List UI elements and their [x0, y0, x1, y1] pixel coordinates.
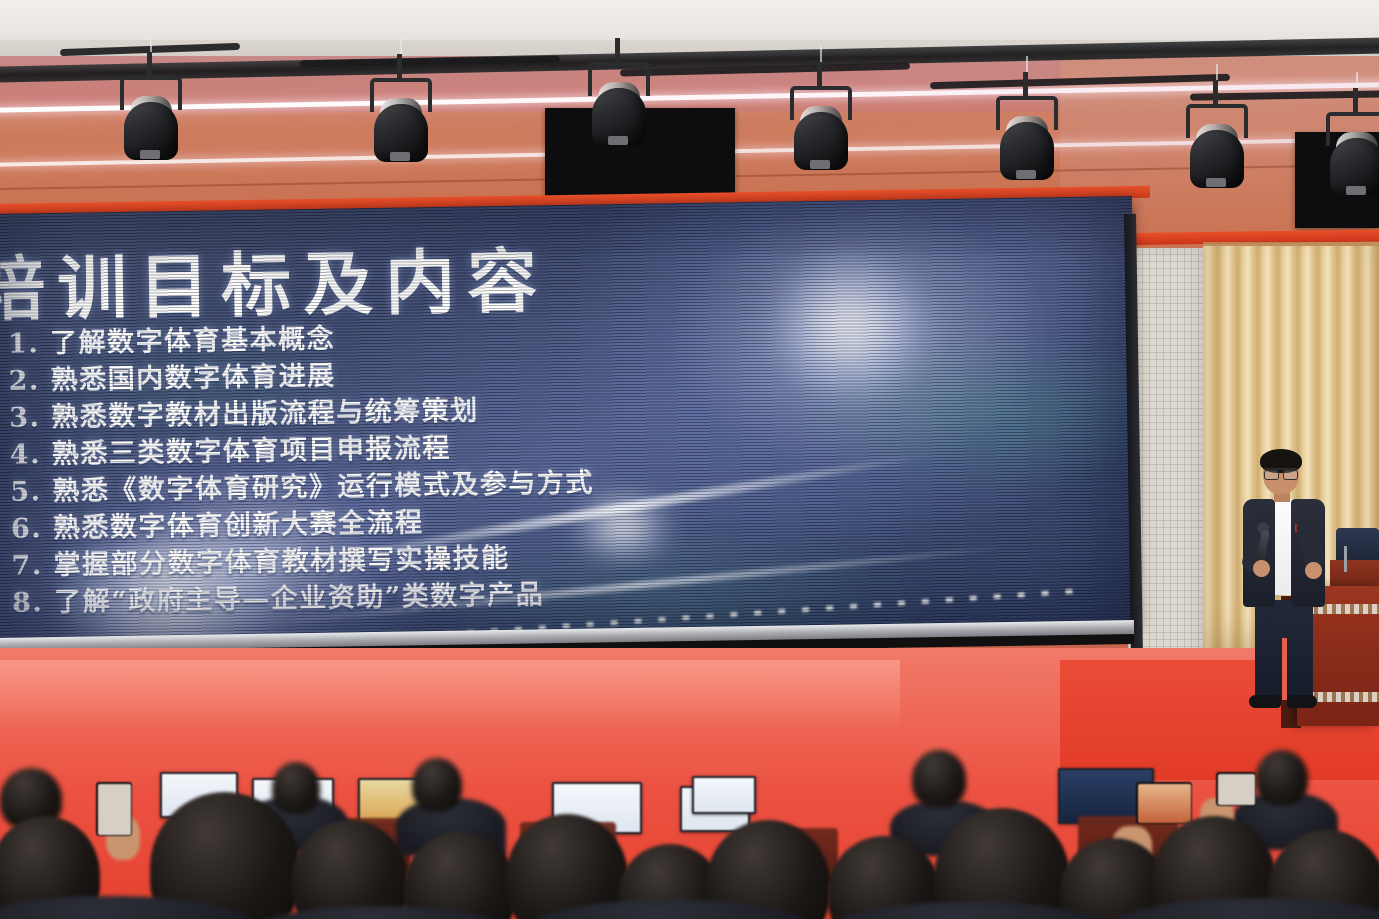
light-hanger — [1353, 88, 1358, 114]
presenter-hand-left — [1253, 560, 1270, 577]
list-item: 8. 了解“政府主导—企业资助”类数字产品 — [12, 576, 596, 622]
presenter-hand-right — [1305, 562, 1322, 579]
led-presentation-screen[interactable]: 培训目标及内容 1. 了解数字体育基本概念 2. 熟悉国内数字体育进展 3. 熟… — [0, 196, 1139, 644]
smartphone — [1136, 782, 1192, 824]
attendee-head — [1256, 750, 1308, 806]
laptop — [692, 776, 756, 814]
light-hanger — [1023, 72, 1028, 98]
light-label-plate — [608, 136, 628, 145]
presenter-leg-gap — [1282, 638, 1287, 700]
attendee-head — [412, 758, 462, 812]
smartphone — [1216, 772, 1256, 806]
attendee-head — [272, 762, 320, 814]
smartphone — [96, 782, 132, 836]
slide-content: 培训目标及内容 1. 了解数字体育基本概念 2. 熟悉国内数字体育进展 3. 熟… — [0, 196, 1139, 644]
presenter-shoe-left — [1249, 695, 1281, 708]
light-label-plate — [140, 150, 160, 159]
light-label-plate — [1016, 170, 1036, 179]
light-hanger — [1213, 80, 1218, 106]
photo-scene: 培训目标及内容 1. 了解数字体育基本概念 2. 熟悉国内数字体育进展 3. 熟… — [0, 0, 1379, 919]
light-label-plate — [390, 152, 410, 161]
light-hanger — [615, 38, 620, 64]
light-label-plate — [1206, 178, 1226, 187]
presenter — [1225, 452, 1345, 712]
light-label-plate — [1346, 186, 1366, 195]
light-label-plate — [810, 160, 830, 169]
presenter-shoe-right — [1287, 695, 1317, 708]
light-hanger — [817, 62, 822, 88]
light-hanger — [397, 54, 402, 80]
eyeglasses-icon — [1264, 468, 1298, 478]
attendee-head — [912, 750, 966, 808]
slide-bullet-list: 1. 了解数字体育基本概念 2. 熟悉国内数字体育进展 3. 熟悉数字教材出版流… — [8, 317, 596, 622]
light-hanger — [147, 52, 152, 78]
audience-area — [0, 720, 1379, 919]
